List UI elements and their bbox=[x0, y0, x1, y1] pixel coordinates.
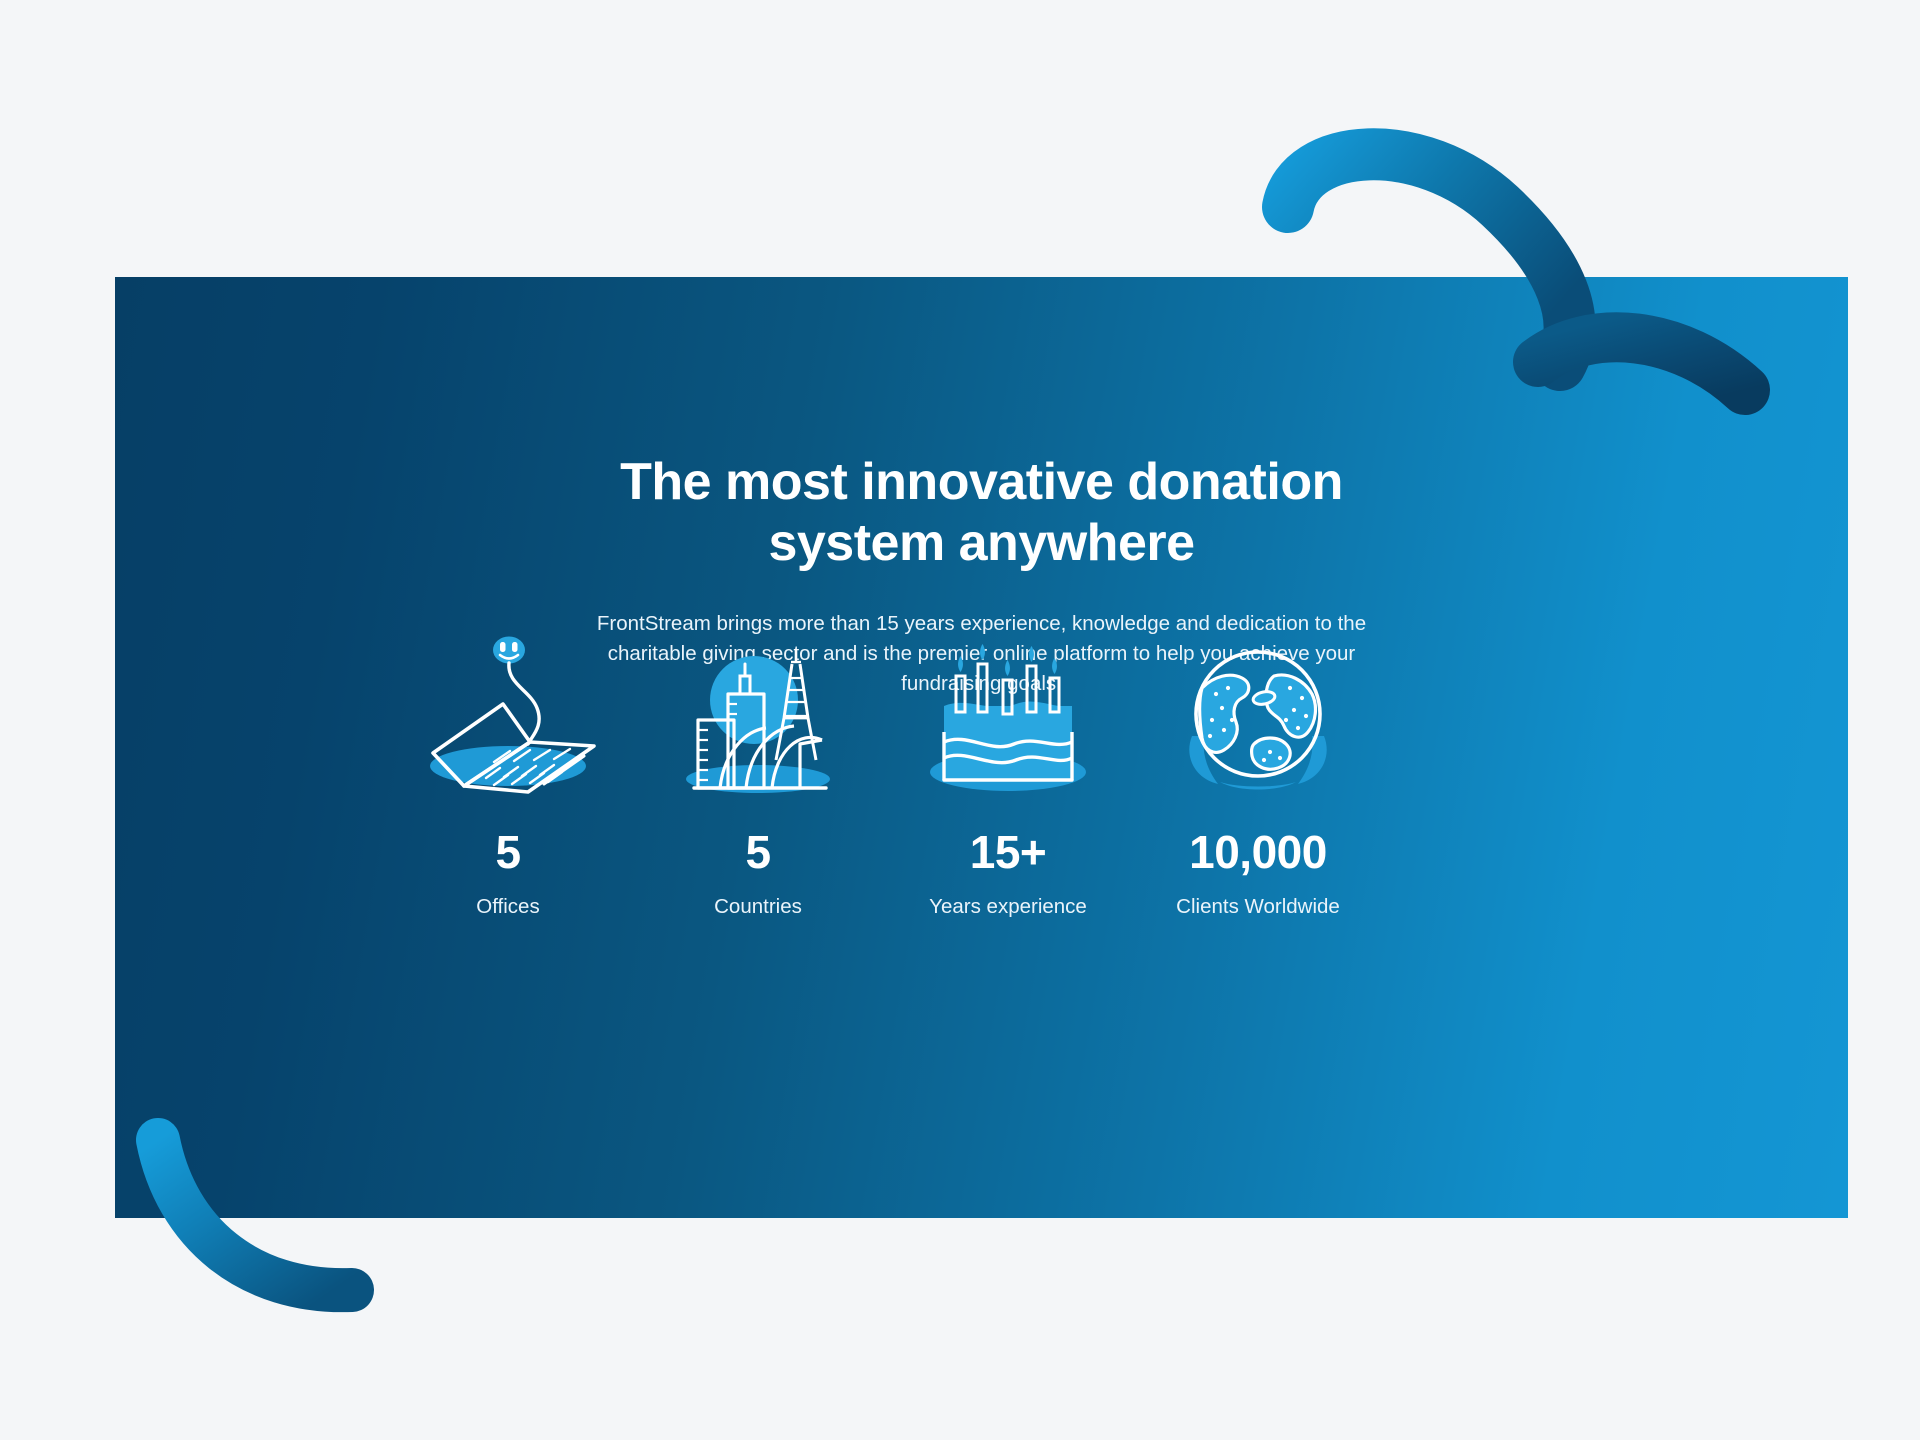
stat-value-years-experience: 15+ bbox=[970, 829, 1047, 875]
stat-countries: 5 Countries bbox=[633, 632, 883, 918]
stat-label-years-experience: Years experience bbox=[929, 897, 1087, 918]
laptop-plug-icon bbox=[408, 632, 608, 807]
stat-label-clients-worldwide: Clients Worldwide bbox=[1176, 897, 1340, 918]
stat-value-countries: 5 bbox=[745, 829, 770, 875]
birthday-cake-icon bbox=[908, 632, 1108, 807]
stat-value-offices: 5 bbox=[495, 829, 520, 875]
stat-offices: 5 Offices bbox=[383, 632, 633, 918]
city-skyline-icon bbox=[658, 632, 858, 807]
stat-label-offices: Offices bbox=[476, 897, 539, 918]
headline-line-2: system anywhere bbox=[115, 513, 1848, 574]
panel-content: The most innovative donation system anyw… bbox=[115, 277, 1848, 1218]
stat-years-experience: 15+ Years experience bbox=[883, 632, 1133, 918]
stat-label-countries: Countries bbox=[714, 897, 802, 918]
headline-line-1: The most innovative donation bbox=[115, 452, 1848, 513]
globe-icon bbox=[1158, 632, 1358, 807]
page-title: The most innovative donation system anyw… bbox=[115, 452, 1848, 574]
hero-section: The most innovative donation system anyw… bbox=[0, 0, 1920, 1440]
stat-clients-worldwide: 10,000 Clients Worldwide bbox=[1133, 632, 1383, 918]
stat-value-clients-worldwide: 10,000 bbox=[1189, 829, 1327, 875]
stats-row: 5 Offices bbox=[383, 632, 1383, 918]
